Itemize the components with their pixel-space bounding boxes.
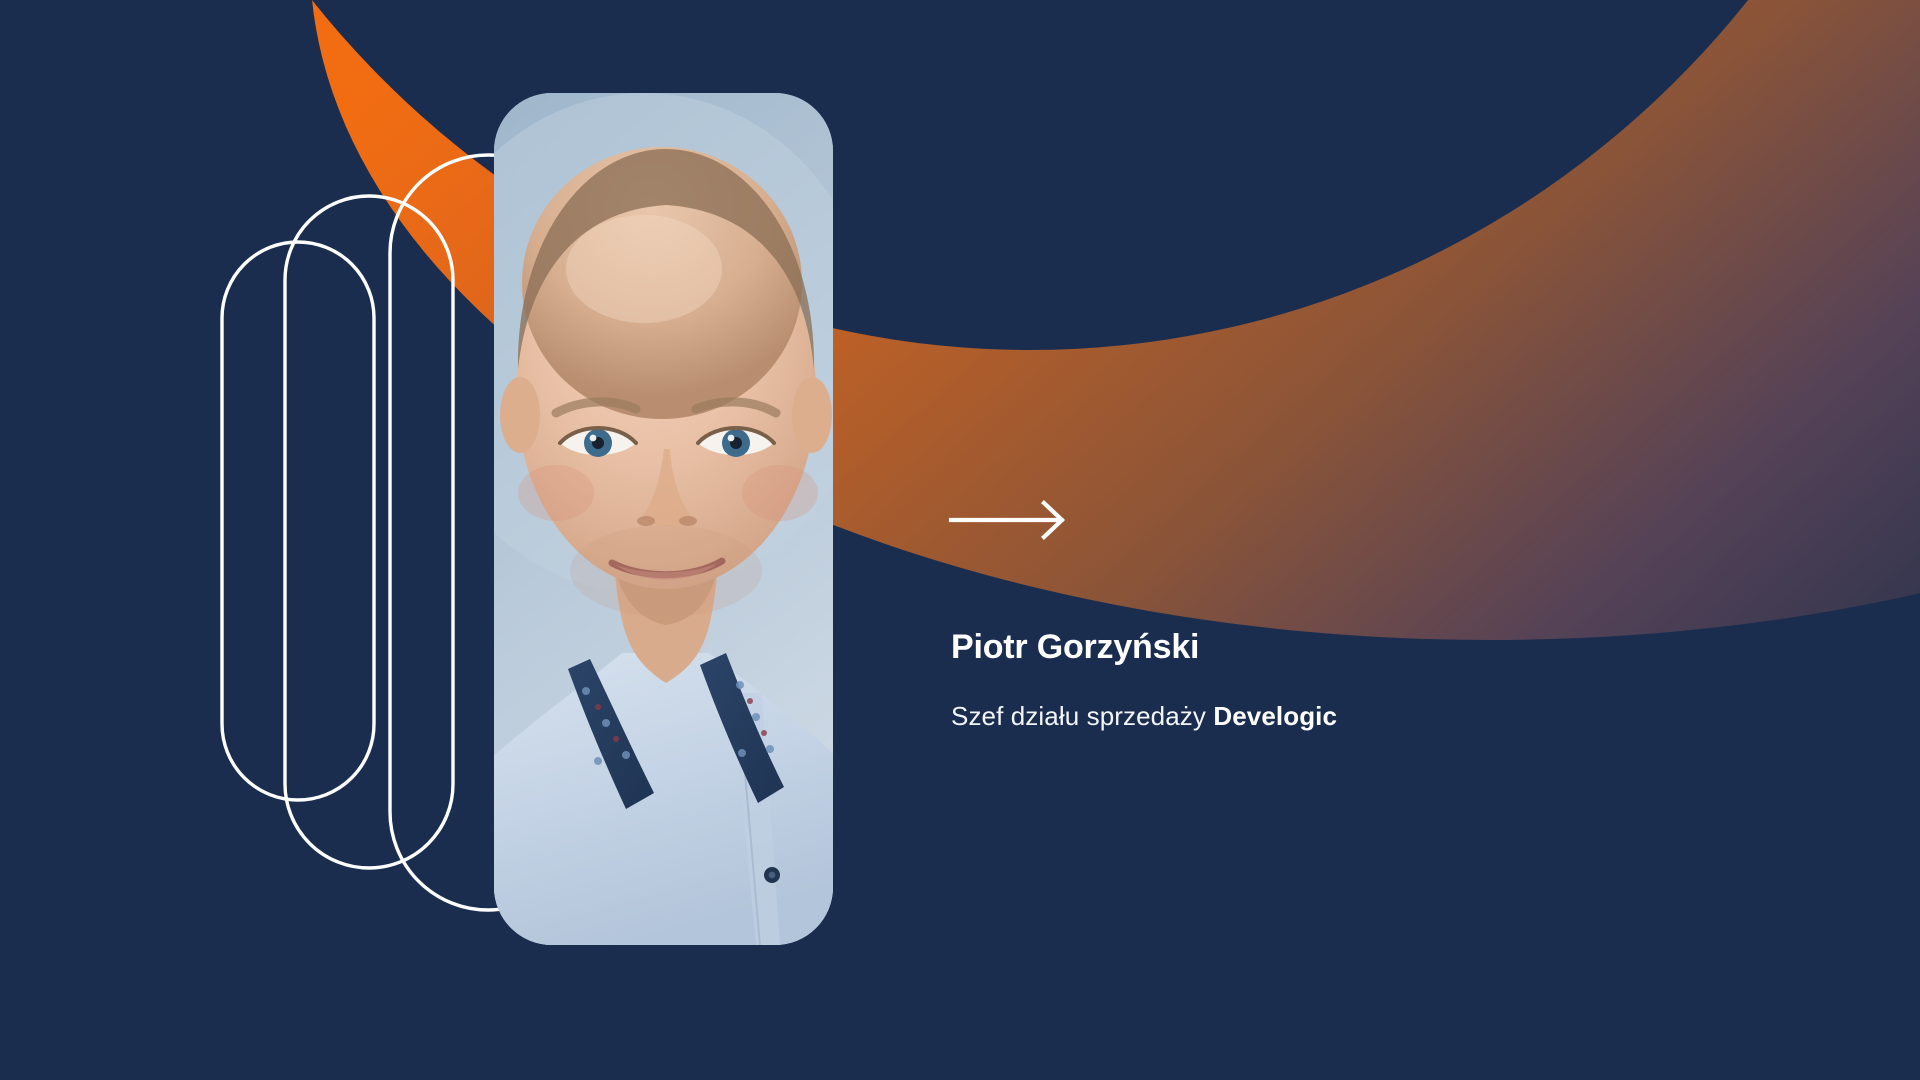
speaker-name: Piotr Gorzyński [951, 625, 1651, 669]
speaker-role-prefix: Szef działu sprzedaży [951, 701, 1213, 731]
pill-outline-middle [285, 196, 453, 868]
speaker-info: Piotr Gorzyński Szef działu sprzedaży De… [951, 625, 1651, 733]
arrow-right-icon [948, 498, 1070, 542]
speaker-role: Szef działu sprzedaży Develogic [951, 699, 1651, 733]
speaker-portrait-photo: Portrait of Piotr Gorzyński [494, 93, 833, 945]
pill-outline-front [222, 242, 374, 800]
speaker-portrait-card: Portrait of Piotr Gorzyński [494, 93, 833, 945]
speaker-company: Develogic [1213, 701, 1337, 731]
slide-canvas: Portrait of Piotr Gorzyński [0, 0, 1920, 1080]
